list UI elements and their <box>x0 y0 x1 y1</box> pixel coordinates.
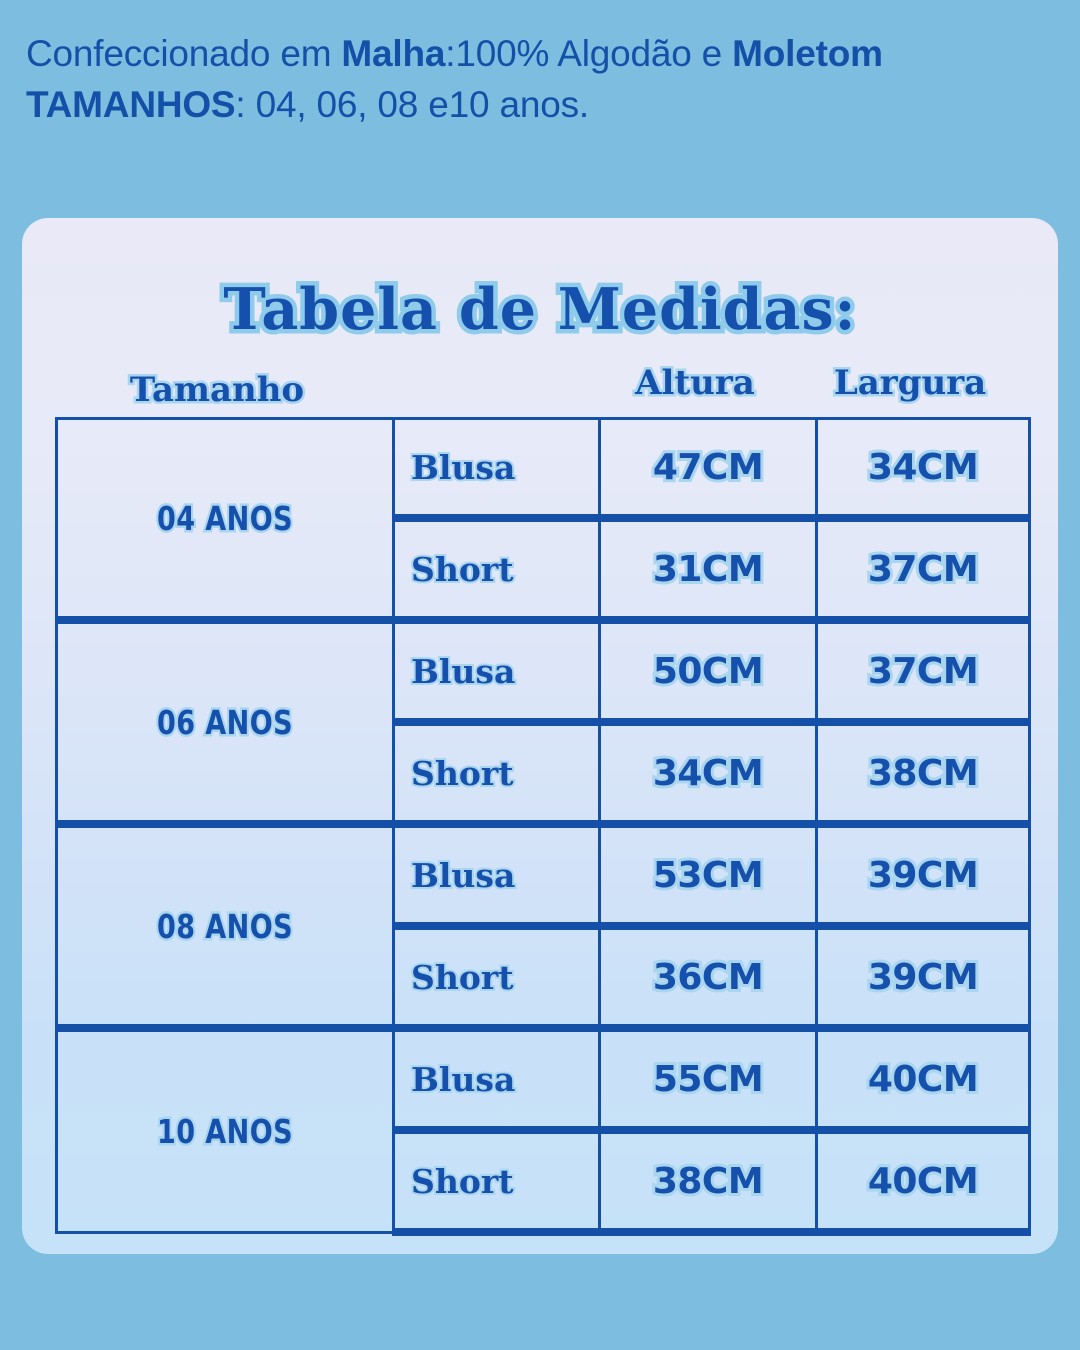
size-label: 06 ANOS <box>88 703 362 742</box>
table-row: 04 ANOS Blusa 47CM 34CM <box>57 419 1030 519</box>
height-cell: 55CM <box>600 1028 817 1130</box>
height-cell: 53CM <box>600 824 817 926</box>
width-cell: 37CM <box>817 518 1030 620</box>
description-text-prefix: Confeccionado em <box>26 33 341 74</box>
width-value: 39CM <box>818 855 1028 896</box>
height-cell: 47CM <box>600 419 817 519</box>
height-cell: 34CM <box>600 722 817 824</box>
description-line-material: Confeccionado em Malha:100% Algodão e Mo… <box>26 28 1061 79</box>
page-title: Tabela de Medidas: <box>22 276 1058 343</box>
height-cell: 38CM <box>600 1130 817 1232</box>
width-value: 40CM <box>818 1059 1028 1100</box>
piece-label: Blusa <box>395 652 598 691</box>
piece-label: Blusa <box>395 1060 598 1099</box>
width-value: 40CM <box>818 1161 1028 1202</box>
piece-label: Short <box>395 1162 598 1201</box>
column-header-size: Tamanho <box>130 370 304 410</box>
piece-cell: Short <box>394 518 600 620</box>
description-material-malha: Malha <box>341 33 445 74</box>
height-cell: 50CM <box>600 620 817 722</box>
piece-label: Blusa <box>395 856 598 895</box>
piece-label: Short <box>395 754 598 793</box>
height-cell: 31CM <box>600 518 817 620</box>
description-material-moletom: Moletom <box>732 33 883 74</box>
piece-cell: Blusa <box>394 620 600 722</box>
width-cell: 40CM <box>817 1130 1030 1232</box>
height-value: 31CM <box>601 549 815 590</box>
size-label: 08 ANOS <box>88 907 362 946</box>
column-header-width: Largura <box>834 363 986 403</box>
size-label: 04 ANOS <box>88 499 362 538</box>
piece-cell: Blusa <box>394 419 600 519</box>
piece-cell: Short <box>394 722 600 824</box>
width-value: 37CM <box>818 549 1028 590</box>
piece-label: Blusa <box>395 448 598 487</box>
description-sizes-values: : 04, 06, 08 e10 anos. <box>235 84 589 125</box>
height-value: 47CM <box>601 447 815 488</box>
width-cell: 38CM <box>817 722 1030 824</box>
height-value: 50CM <box>601 651 815 692</box>
height-value: 55CM <box>601 1059 815 1100</box>
size-measurement-table: 04 ANOS Blusa 47CM 34CM Short 31CM <box>55 417 1031 1236</box>
description-text-middle: :100% Algodão e <box>445 33 732 74</box>
height-value: 38CM <box>601 1161 815 1202</box>
width-value: 38CM <box>818 753 1028 794</box>
width-value: 39CM <box>818 957 1028 998</box>
width-cell: 39CM <box>817 926 1030 1028</box>
measurement-card: Tabela de Medidas: Tamanho Altura Largur… <box>22 218 1058 1254</box>
piece-cell: Blusa <box>394 824 600 926</box>
piece-cell: Short <box>394 1130 600 1232</box>
description-sizes-label: TAMANHOS <box>26 84 235 125</box>
height-cell: 36CM <box>600 926 817 1028</box>
width-value: 34CM <box>818 447 1028 488</box>
piece-cell: Short <box>394 926 600 1028</box>
column-header-height: Altura <box>635 363 755 403</box>
table-row: 06 ANOS Blusa 50CM 37CM <box>57 620 1030 722</box>
description-line-sizes: TAMANHOS: 04, 06, 08 e10 anos. <box>26 79 1061 130</box>
table-row: 10 ANOS Blusa 55CM 40CM <box>57 1028 1030 1130</box>
piece-label: Short <box>395 958 598 997</box>
width-cell: 37CM <box>817 620 1030 722</box>
height-value: 34CM <box>601 753 815 794</box>
height-value: 53CM <box>601 855 815 896</box>
size-cell: 04 ANOS <box>57 419 394 621</box>
piece-label: Short <box>395 550 598 589</box>
width-cell: 40CM <box>817 1028 1030 1130</box>
size-label: 10 ANOS <box>88 1112 362 1151</box>
table-row: 08 ANOS Blusa 53CM 39CM <box>57 824 1030 926</box>
width-cell: 39CM <box>817 824 1030 926</box>
width-cell: 34CM <box>817 419 1030 519</box>
size-cell: 08 ANOS <box>57 824 394 1028</box>
piece-cell: Blusa <box>394 1028 600 1130</box>
width-value: 37CM <box>818 651 1028 692</box>
product-description: Confeccionado em Malha:100% Algodão e Mo… <box>26 28 1061 130</box>
size-cell: 06 ANOS <box>57 620 394 824</box>
size-cell: 10 ANOS <box>57 1028 394 1232</box>
height-value: 36CM <box>601 957 815 998</box>
